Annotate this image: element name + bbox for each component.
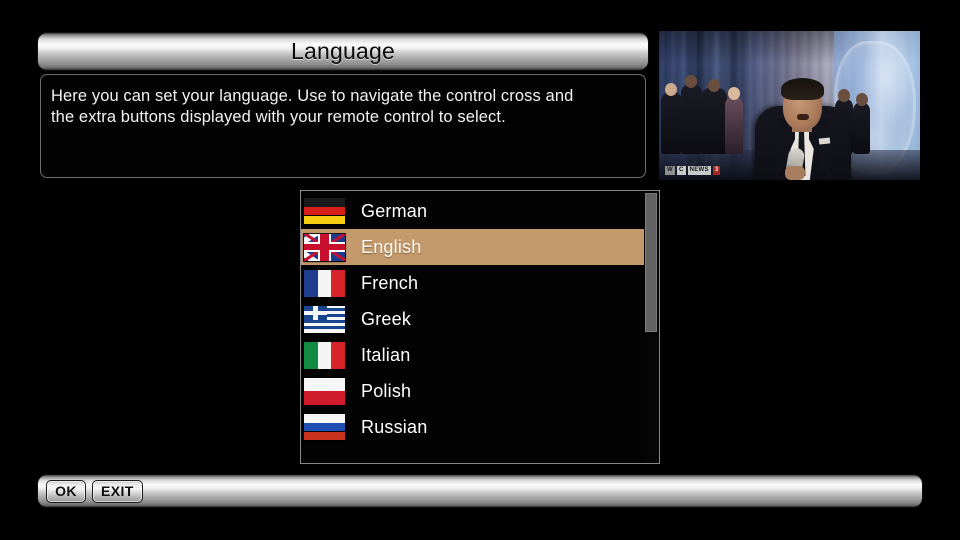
description-panel: Here you can set your language. Use to n… <box>40 74 646 178</box>
preview-guest-head <box>708 79 720 92</box>
list-item-label: French <box>361 274 418 292</box>
list-item-russian[interactable]: Russian <box>301 409 645 445</box>
page-title: Language <box>291 40 395 63</box>
list-item-italian[interactable]: Italian <box>301 337 645 373</box>
preview-guest-head <box>685 75 697 88</box>
channel-watermark: W C NEWS 3 <box>665 166 720 175</box>
language-list-panel[interactable]: German English French <box>300 190 660 464</box>
list-scrollbar[interactable] <box>644 192 658 464</box>
list-item-label: English <box>361 238 421 256</box>
list-item-polish[interactable]: Polish <box>301 373 645 409</box>
flag-italy-icon <box>304 342 345 369</box>
osd-screen: Language Here you can set your language.… <box>0 0 960 540</box>
flag-united-kingdom-icon <box>304 234 345 261</box>
preview-guest <box>681 84 702 154</box>
list-item-german[interactable]: German <box>301 193 645 229</box>
description-text: Here you can set your language. Use to n… <box>51 86 633 128</box>
ok-button[interactable]: OK <box>46 480 86 503</box>
list-item-label: Greek <box>361 310 411 328</box>
list-item-english[interactable]: English <box>301 229 645 265</box>
preview-guest-head <box>665 83 677 96</box>
list-item-label: Polish <box>361 382 411 400</box>
list-item-greek[interactable]: Greek <box>301 301 645 337</box>
channel-watermark-part: W <box>665 166 675 175</box>
preview-reporter-pocket-square <box>819 137 831 144</box>
preview-guest <box>725 96 743 154</box>
preview-guest-head <box>856 93 868 106</box>
preview-reporter-hair <box>781 78 824 100</box>
flag-france-icon <box>304 270 345 297</box>
bottom-action-bar: OK EXIT <box>38 475 922 507</box>
exit-button[interactable]: EXIT <box>92 480 143 503</box>
preview-guest-head <box>838 89 850 102</box>
preview-reporter-hand <box>785 166 805 180</box>
flag-greece-icon <box>304 306 345 333</box>
preview-guest <box>853 102 870 154</box>
preview-reporter-mouth <box>797 114 809 120</box>
channel-watermark-part: 3 <box>713 166 721 175</box>
video-preview[interactable]: W C NEWS 3 <box>659 31 920 180</box>
title-bar: Language <box>38 33 648 70</box>
list-item-french[interactable]: French <box>301 265 645 301</box>
preview-guest-head <box>728 87 740 100</box>
language-list: German English French <box>301 193 645 445</box>
list-item-label: German <box>361 202 427 220</box>
list-item-label: Italian <box>361 346 410 364</box>
preview-guest <box>661 92 682 154</box>
preview-guest <box>701 88 727 154</box>
flag-russia-icon <box>304 414 345 441</box>
flag-poland-icon <box>304 378 345 405</box>
channel-watermark-part: C <box>677 166 686 175</box>
list-scrollbar-thumb[interactable] <box>645 193 657 332</box>
channel-watermark-part: NEWS <box>688 166 711 175</box>
flag-germany-icon <box>304 198 345 225</box>
list-item-label: Russian <box>361 418 427 436</box>
